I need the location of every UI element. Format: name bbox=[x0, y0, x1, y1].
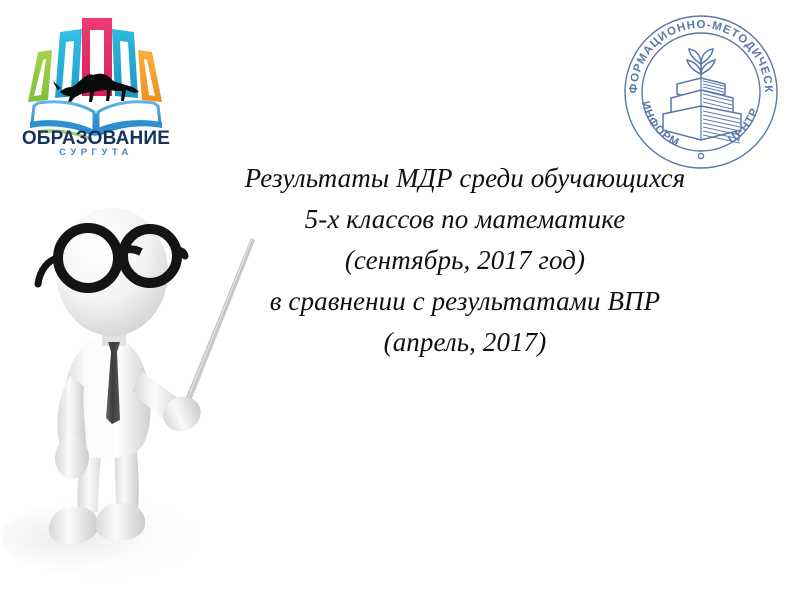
logo-title-main: ОБРАЗОВАНИЕ bbox=[22, 128, 170, 149]
informacionno-metodicheskiy-centr-emblem: ИНФОРМАЦИОННО-МЕТОДИЧЕСКИЙ ИНФОРМ ЦЕНТР bbox=[611, 2, 791, 182]
fox-icon bbox=[53, 74, 139, 102]
hand-left bbox=[55, 437, 89, 479]
foot-right bbox=[96, 503, 145, 541]
title-line-5: (апрель, 2017) bbox=[185, 322, 745, 363]
slide-canvas: ОБРАЗОВАНИЕ СУРГУТА ИНФОРМАЦИОННО-МЕТОДИ… bbox=[0, 0, 800, 600]
logo-title-sub: СУРГУТА bbox=[59, 147, 133, 156]
title-line-1: Результаты МДР среди обучающихся bbox=[185, 158, 745, 199]
page-title: Результаты МДР среди обучающихся 5-х кла… bbox=[185, 158, 745, 363]
title-line-2: 5-х классов по математике bbox=[185, 199, 745, 240]
obrazovanie-surguta-logo: ОБРАЗОВАНИЕ СУРГУТА bbox=[8, 4, 184, 156]
book-stack-icon bbox=[663, 78, 741, 143]
title-line-3: (сентябрь, 2017 год) bbox=[185, 240, 745, 281]
title-line-4: в сравнении с результатами ВПР bbox=[185, 281, 745, 322]
